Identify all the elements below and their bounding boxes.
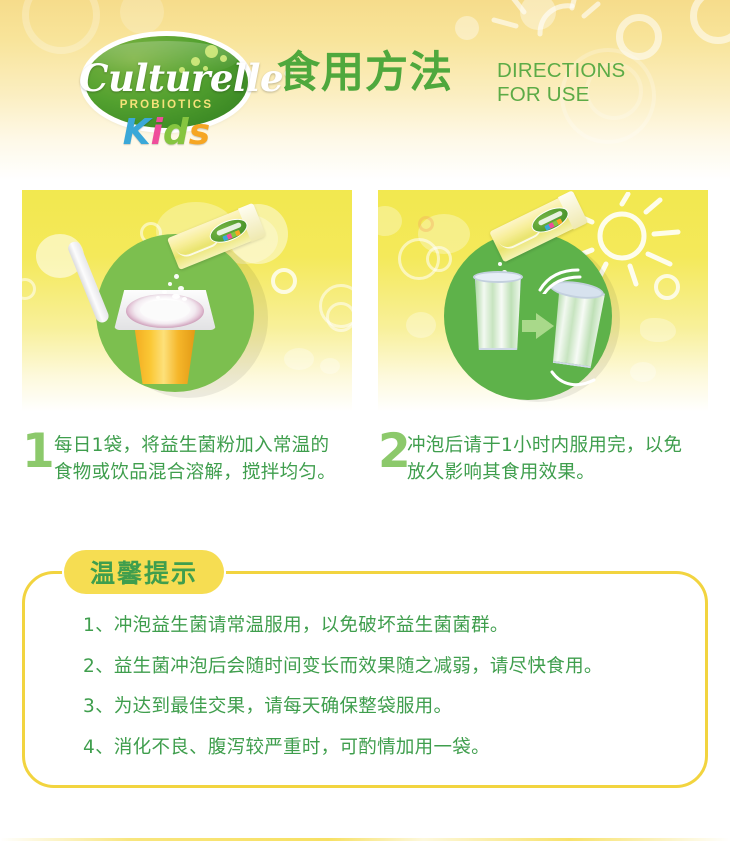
step-2-line1: 冲泡后请于1小时内服用完，以免 <box>407 432 708 459</box>
powder-particle <box>172 294 180 299</box>
decorative-blob-icon <box>520 0 556 30</box>
tip-item: 2、益生菌冲泡后会随时间变长而效果随之减弱，请尽快食用。 <box>83 658 683 677</box>
step-2-number: 2 <box>378 428 411 475</box>
decorative-blob-icon <box>630 362 656 382</box>
logo-wordmark: Culturelle® <box>79 56 254 100</box>
step-1-line1: 每日1袋，将益生菌粉加入常温的 <box>54 432 367 459</box>
logo-subtitle: PROBIOTICS <box>79 99 254 111</box>
page-title-chinese: 食用方法 <box>277 52 453 95</box>
decorative-blob-icon <box>378 206 402 236</box>
step-2: 2 冲泡后请于1小时内服用完，以免 放久影响其食用效果。 <box>378 432 708 487</box>
logo-kids-wordmark: Kids <box>79 112 254 153</box>
page-header: Culturelle® PROBIOTICS Kids 食用方法 DIRECTI… <box>0 0 730 180</box>
decorative-ring-icon <box>690 0 730 44</box>
kids-letter-s: s <box>189 112 210 153</box>
decorative-blob-icon <box>320 358 340 374</box>
powder-particle <box>182 297 187 301</box>
step-2-line2: 放久影响其食用效果。 <box>407 459 708 486</box>
kids-letter-k: K <box>123 112 151 153</box>
decorative-ring-icon <box>398 238 440 280</box>
decorative-ring-icon <box>426 246 452 272</box>
tips-badge: 温馨提示 <box>64 550 224 594</box>
kids-letter-d: d <box>163 112 189 153</box>
decorative-ring-icon <box>654 274 680 300</box>
decorative-blob-icon <box>284 348 314 370</box>
product-directions-page: Culturelle® PROBIOTICS Kids 食用方法 DIRECTI… <box>0 0 730 844</box>
decorative-ring-icon <box>418 216 434 232</box>
step-1-number: 1 <box>22 428 55 475</box>
arrow-right-icon <box>536 313 554 339</box>
full-glass-rim <box>473 271 523 283</box>
powder-particle <box>178 286 184 291</box>
step-1-line2: 食物或饮品混合溶解，搅拌均匀。 <box>54 459 367 486</box>
tip-item: 1、冲泡益生菌请常温服用，以免破坏益生菌菌群。 <box>83 617 683 636</box>
powder-particle <box>156 296 160 299</box>
footer-divider <box>0 838 730 841</box>
powder-particle <box>498 262 502 266</box>
powder-particle <box>168 282 172 286</box>
decorative-blob-icon <box>455 16 479 40</box>
decorative-ring-icon <box>271 268 297 294</box>
motion-lines-icon <box>550 368 596 390</box>
decorative-blob-icon <box>418 214 470 254</box>
page-title-english-line2: FOR USE <box>497 83 625 107</box>
step-1-text: 每日1袋，将益生菌粉加入常温的 食物或饮品混合溶解，搅拌均匀。 <box>54 432 367 487</box>
page-title-english-line1: DIRECTIONS <box>497 59 625 83</box>
motion-lines-icon <box>536 266 584 294</box>
tip-item: 4、消化不良、腹泻较严重时，可酌情加用一袋。 <box>83 739 683 758</box>
tips-list: 1、冲泡益生菌请常温服用，以免破坏益生菌菌群。 2、益生菌冲泡后会随时间变长而效… <box>83 617 683 779</box>
decorative-ring-icon <box>22 278 36 300</box>
tip-item: 3、为达到最佳交果，请每天确保整袋服用。 <box>83 698 683 717</box>
powder-particle <box>174 274 179 279</box>
step-2-text: 冲泡后请于1小时内服用完，以免 放久影响其食用效果。 <box>407 432 708 487</box>
logo-word-text: Culturelle <box>79 56 283 100</box>
brand-logo: Culturelle® PROBIOTICS Kids <box>79 36 254 146</box>
tips-box: 1、冲泡益生菌请常温服用，以免破坏益生菌菌群。 2、益生菌冲泡后会随时间变长而效… <box>22 571 708 788</box>
full-glass-icon <box>474 276 522 350</box>
page-title-english: DIRECTIONS FOR USE <box>497 59 625 107</box>
kids-letter-i: i <box>151 112 163 153</box>
decorative-blob-icon <box>120 0 164 34</box>
decorative-ring-icon <box>319 284 352 328</box>
decorative-blob-icon <box>406 312 436 338</box>
decorative-blob-icon <box>640 318 676 342</box>
decorative-ring-icon <box>326 302 352 332</box>
powder-particle <box>162 290 167 294</box>
step-1-illustration <box>22 190 352 412</box>
step-1: 1 每日1袋，将益生菌粉加入常温的 食物或饮品混合溶解，搅拌均匀。 <box>22 432 367 487</box>
decorative-ring-icon <box>616 14 662 60</box>
yogurt-surface <box>140 300 190 320</box>
step-2-illustration <box>378 190 708 412</box>
tips-badge-label: 温馨提示 <box>90 554 198 590</box>
